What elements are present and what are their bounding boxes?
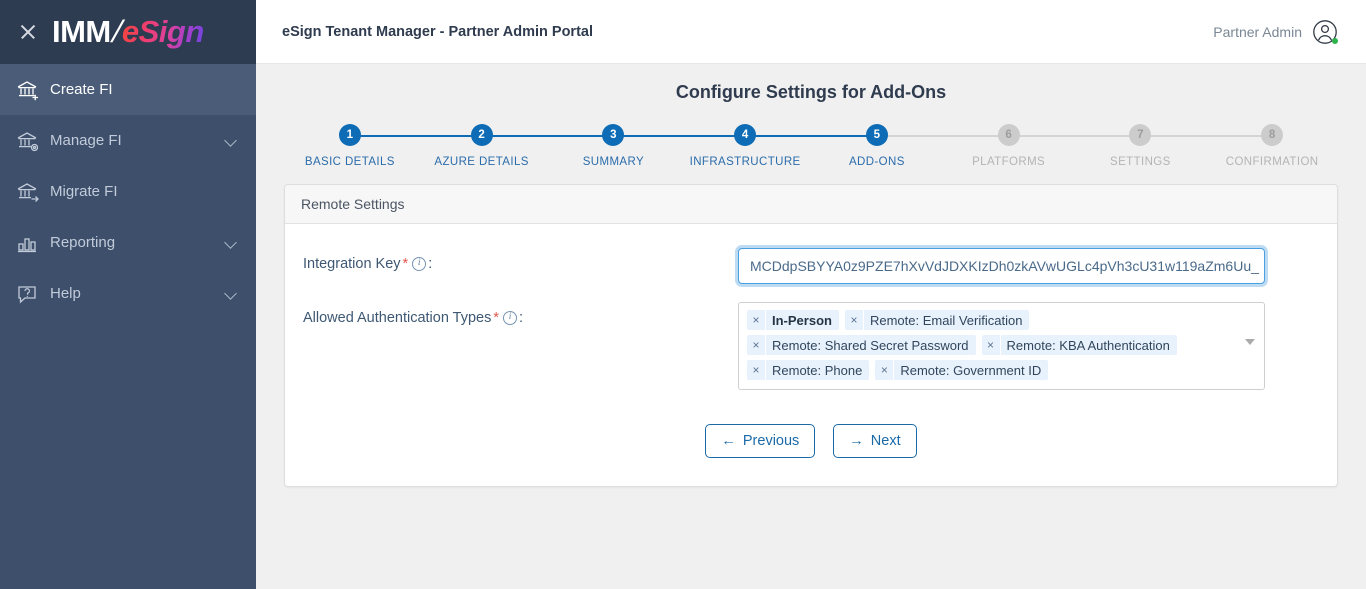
chevron-down-icon[interactable] bbox=[1245, 339, 1255, 345]
remote-settings-card: Remote Settings Integration Key*i: MCDdp… bbox=[284, 184, 1338, 487]
tag-label: Remote: KBA Authentication bbox=[1001, 335, 1177, 355]
step-number[interactable]: 3 bbox=[602, 124, 624, 146]
portal-title: eSign Tenant Manager - Partner Admin Por… bbox=[282, 24, 593, 40]
step-label: BASIC DETAILS bbox=[305, 156, 395, 168]
sidebar-item-label: Manage FI bbox=[50, 132, 224, 149]
step-label: SETTINGS bbox=[1110, 156, 1171, 168]
chevron-down-icon[interactable] bbox=[224, 134, 238, 148]
tag-remove-icon[interactable]: × bbox=[982, 335, 1001, 355]
tag-remove-icon[interactable]: × bbox=[747, 360, 766, 380]
step-number[interactable]: 8 bbox=[1261, 124, 1283, 146]
chevron-down-icon[interactable] bbox=[224, 287, 238, 301]
tag-remote-kba-authentication[interactable]: × Remote: KBA Authentication bbox=[982, 335, 1177, 355]
arrow-right-icon: → bbox=[849, 433, 864, 449]
step-connector bbox=[877, 135, 1009, 137]
sidebar-item-help[interactable]: Help bbox=[0, 268, 256, 319]
question-chat-icon bbox=[16, 283, 50, 305]
tag-remote-phone[interactable]: × Remote: Phone bbox=[747, 360, 869, 380]
info-icon[interactable]: i bbox=[503, 311, 517, 325]
tag-remote-government-id[interactable]: × Remote: Government ID bbox=[875, 360, 1048, 380]
form-row-integration-key: Integration Key*i: MCDdpSBYYA0z9PZE7hXvV… bbox=[301, 248, 1321, 284]
sidebar-item-migrate-fi[interactable]: Migrate FI bbox=[0, 166, 256, 217]
previous-button[interactable]: ← Previous bbox=[705, 424, 815, 458]
step-number[interactable]: 5 bbox=[866, 124, 888, 146]
previous-button-label: Previous bbox=[743, 433, 799, 449]
step-connector bbox=[1009, 135, 1141, 137]
tag-label: Remote: Government ID bbox=[894, 360, 1048, 380]
user-name-label: Partner Admin bbox=[1213, 24, 1302, 40]
card-body: Integration Key*i: MCDdpSBYYA0z9PZE7hXvV… bbox=[285, 224, 1337, 486]
auth-types-field: × In-Person × Remote: Email Verification… bbox=[738, 302, 1265, 390]
sidebar-brand: IMM/eSign bbox=[0, 0, 256, 64]
step-connector bbox=[613, 135, 745, 137]
sidebar-item-label: Reporting bbox=[50, 234, 224, 251]
wizard-stepper: 1 BASIC DETAILS 2 AZURE DETAILS 3 SUMMAR… bbox=[284, 124, 1338, 168]
step-number[interactable]: 2 bbox=[471, 124, 493, 146]
step-infrastructure[interactable]: 4 INFRASTRUCTURE bbox=[679, 124, 811, 168]
card-header-title: Remote Settings bbox=[285, 185, 1337, 224]
bar-chart-icon bbox=[16, 232, 50, 254]
step-settings[interactable]: 7 SETTINGS bbox=[1075, 124, 1207, 168]
user-menu[interactable]: Partner Admin bbox=[1213, 19, 1338, 45]
step-confirmation[interactable]: 8 CONFIRMATION bbox=[1206, 124, 1338, 168]
required-asterisk: * bbox=[403, 256, 409, 272]
sidebar-nav: Create FI Manage FI bbox=[0, 64, 256, 319]
main-area: eSign Tenant Manager - Partner Admin Por… bbox=[256, 0, 1366, 589]
sidebar-item-label: Migrate FI bbox=[50, 183, 238, 200]
step-number[interactable]: 4 bbox=[734, 124, 756, 146]
tag-remove-icon[interactable]: × bbox=[747, 310, 766, 330]
tag-remove-icon[interactable]: × bbox=[875, 360, 894, 380]
integration-key-label: Integration Key*i: bbox=[301, 248, 738, 280]
integration-key-field: MCDdpSBYYA0z9PZE7hXvVdJDXKIzDh0zkAVwUGLc… bbox=[738, 248, 1265, 284]
bank-gear-icon bbox=[16, 130, 50, 152]
step-basic-details[interactable]: 1 BASIC DETAILS bbox=[284, 124, 416, 168]
step-number[interactable]: 1 bbox=[339, 124, 361, 146]
logo-text-esign: eSign bbox=[122, 14, 204, 50]
tag-label: Remote: Email Verification bbox=[864, 310, 1029, 330]
step-label: AZURE DETAILS bbox=[434, 156, 528, 168]
integration-key-label-text: Integration Key bbox=[303, 256, 401, 272]
step-azure-details[interactable]: 2 AZURE DETAILS bbox=[416, 124, 548, 168]
page-content: Configure Settings for Add-Ons 1 BASIC D… bbox=[256, 64, 1366, 589]
step-summary[interactable]: 3 SUMMARY bbox=[548, 124, 680, 168]
tag-remote-email-verification[interactable]: × Remote: Email Verification bbox=[845, 310, 1029, 330]
step-connector bbox=[350, 135, 482, 137]
app-logo: IMM/eSign bbox=[52, 14, 204, 50]
label-colon: : bbox=[519, 310, 523, 326]
step-number[interactable]: 7 bbox=[1129, 124, 1151, 146]
auth-types-label: Allowed Authentication Types*i: bbox=[301, 302, 738, 334]
step-platforms[interactable]: 6 PLATFORMS bbox=[943, 124, 1075, 168]
step-label: SUMMARY bbox=[583, 156, 644, 168]
status-dot bbox=[1332, 38, 1338, 44]
bank-plus-icon bbox=[16, 79, 50, 101]
step-connector bbox=[745, 135, 877, 137]
integration-key-input[interactable]: MCDdpSBYYA0z9PZE7hXvVdJDXKIzDh0zkAVwUGLc… bbox=[738, 248, 1265, 284]
step-connector bbox=[482, 135, 614, 137]
info-icon[interactable]: i bbox=[412, 257, 426, 271]
step-label: PLATFORMS bbox=[972, 156, 1045, 168]
arrow-left-icon: ← bbox=[721, 433, 736, 449]
sidebar-item-label: Help bbox=[50, 285, 224, 302]
label-colon: : bbox=[428, 256, 432, 272]
wizard-actions: ← Previous → Next bbox=[301, 424, 1321, 458]
step-label: CONFIRMATION bbox=[1226, 156, 1319, 168]
logo-text-imm: IMM bbox=[52, 14, 111, 50]
tag-label: Remote: Shared Secret Password bbox=[766, 335, 976, 355]
tag-remove-icon[interactable]: × bbox=[747, 335, 766, 355]
app-root: IMM/eSign Create FI bbox=[0, 0, 1366, 589]
next-button[interactable]: → Next bbox=[833, 424, 916, 458]
next-button-label: Next bbox=[871, 433, 901, 449]
tag-in-person[interactable]: × In-Person bbox=[747, 310, 839, 330]
auth-types-label-text: Allowed Authentication Types bbox=[303, 310, 491, 326]
page-title: Configure Settings for Add-Ons bbox=[256, 82, 1366, 103]
chevron-down-icon[interactable] bbox=[224, 236, 238, 250]
top-header: eSign Tenant Manager - Partner Admin Por… bbox=[256, 0, 1366, 64]
user-avatar-icon[interactable] bbox=[1312, 19, 1338, 45]
step-connector bbox=[1140, 135, 1272, 137]
tag-label: Remote: Phone bbox=[766, 360, 869, 380]
step-label: INFRASTRUCTURE bbox=[690, 156, 801, 168]
auth-types-multiselect[interactable]: × In-Person × Remote: Email Verification… bbox=[738, 302, 1265, 390]
sidebar-item-manage-fi[interactable]: Manage FI bbox=[0, 115, 256, 166]
bank-arrow-icon bbox=[16, 181, 50, 203]
close-icon[interactable] bbox=[18, 22, 38, 42]
step-add-ons[interactable]: 5 ADD-ONS bbox=[811, 124, 943, 168]
step-number[interactable]: 6 bbox=[998, 124, 1020, 146]
tag-label: In-Person bbox=[766, 310, 839, 330]
tag-remove-icon[interactable]: × bbox=[845, 310, 864, 330]
step-label: ADD-ONS bbox=[849, 156, 905, 168]
sidebar: IMM/eSign Create FI bbox=[0, 0, 256, 589]
sidebar-item-label: Create FI bbox=[50, 81, 238, 98]
sidebar-item-create-fi[interactable]: Create FI bbox=[0, 64, 256, 115]
tag-remote-shared-secret-password[interactable]: × Remote: Shared Secret Password bbox=[747, 335, 976, 355]
sidebar-item-reporting[interactable]: Reporting bbox=[0, 217, 256, 268]
form-row-auth-types: Allowed Authentication Types*i: × In-Per… bbox=[301, 302, 1321, 390]
required-asterisk: * bbox=[493, 310, 499, 326]
